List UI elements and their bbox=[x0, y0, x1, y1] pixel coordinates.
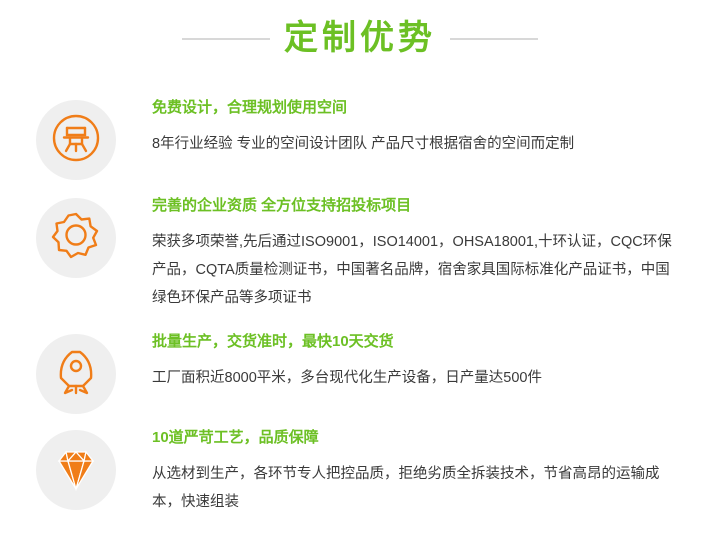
advantage-item-4: 10道严苛工艺，品质保障 从选材到生产，各环节专人把控品质，拒绝劣质全拆装技术，… bbox=[0, 428, 720, 516]
advantage-body-1: 8年行业经验 专业的空间设计团队 产品尺寸根据宿舍的空间而定制 bbox=[152, 130, 680, 158]
rocket-icon bbox=[50, 346, 102, 403]
icon-circle-3 bbox=[36, 334, 116, 414]
advantage-body-4: 从选材到生产，各环节专人把控品质，拒绝劣质全拆装技术，节省高昂的运输成本，快速组… bbox=[152, 460, 680, 516]
advantage-body-3: 工厂面积近8000平米，多台现代化生产设备，日产量达500件 bbox=[152, 364, 680, 392]
text-cell-3: 批量生产，交货准时，最快10天交货 工厂面积近8000平米，多台现代化生产设备，… bbox=[152, 332, 720, 392]
promo-page: 定制优势 bbox=[0, 0, 720, 554]
page-title: 定制优势 bbox=[270, 21, 450, 55]
mian-badge-icon bbox=[51, 113, 101, 168]
text-cell-4: 10道严苛工艺，品质保障 从选材到生产，各环节专人把控品质，拒绝劣质全拆装技术，… bbox=[152, 428, 720, 516]
award-rosette-icon bbox=[50, 210, 102, 267]
advantage-item-2: 完善的企业资质 全方位支持招投标项目 荣获多项荣誉,先后通过ISO9001，IS… bbox=[0, 196, 720, 312]
icon-cell-1 bbox=[0, 98, 152, 180]
icon-circle-1 bbox=[36, 100, 116, 180]
advantage-heading-4: 10道严苛工艺，品质保障 bbox=[152, 428, 680, 448]
icon-cell-3 bbox=[0, 332, 152, 414]
advantage-body-2: 荣获多项荣誉,先后通过ISO9001，ISO14001，OHSA18001,十环… bbox=[152, 228, 680, 312]
page-title-block: 定制优势 bbox=[0, 0, 720, 76]
icon-circle-4 bbox=[36, 430, 116, 510]
text-cell-2: 完善的企业资质 全方位支持招投标项目 荣获多项荣誉,先后通过ISO9001，IS… bbox=[152, 196, 720, 312]
advantage-item-3: 批量生产，交货准时，最快10天交货 工厂面积近8000平米，多台现代化生产设备，… bbox=[0, 332, 720, 414]
icon-circle-2 bbox=[36, 198, 116, 278]
advantage-heading-2: 完善的企业资质 全方位支持招投标项目 bbox=[152, 196, 680, 216]
advantage-heading-1: 免费设计，合理规划使用空间 bbox=[152, 98, 680, 118]
icon-cell-4 bbox=[0, 428, 152, 510]
advantage-heading-3: 批量生产，交货准时，最快10天交货 bbox=[152, 332, 680, 352]
diamond-icon bbox=[49, 441, 103, 500]
advantage-item-1: 免费设计，合理规划使用空间 8年行业经验 专业的空间设计团队 产品尺寸根据宿舍的… bbox=[0, 98, 720, 180]
icon-cell-2 bbox=[0, 196, 152, 278]
text-cell-1: 免费设计，合理规划使用空间 8年行业经验 专业的空间设计团队 产品尺寸根据宿舍的… bbox=[152, 98, 720, 158]
